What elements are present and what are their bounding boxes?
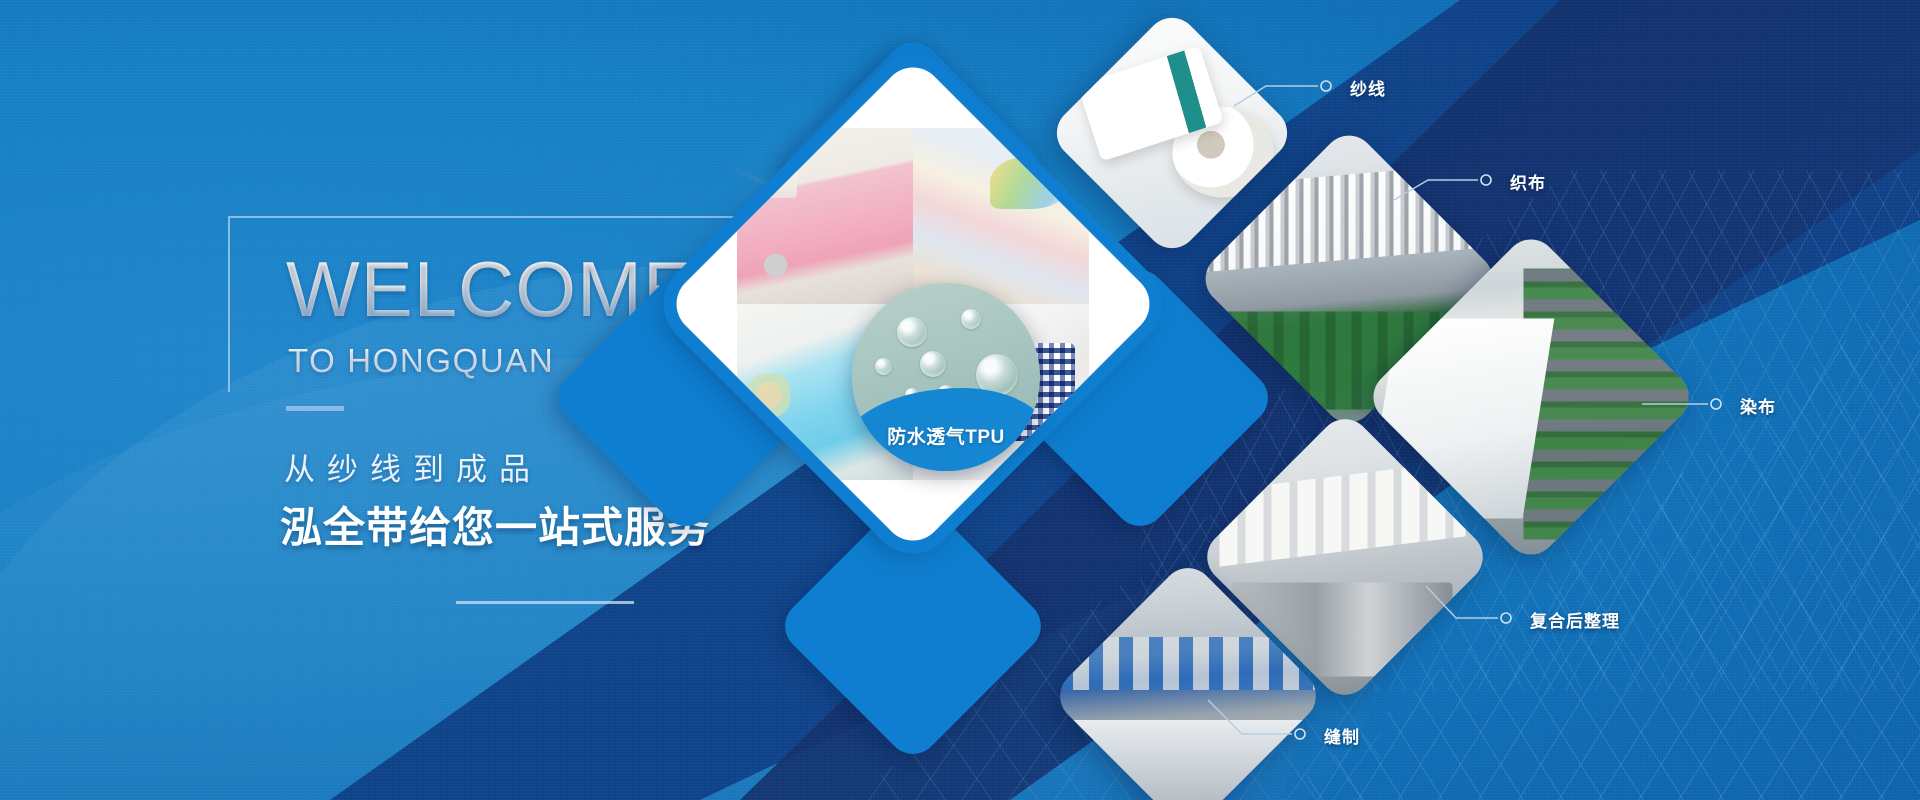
callout-dyeing: 染布: [1640, 378, 1920, 428]
callout-laminating: 复合后整理: [1400, 568, 1740, 638]
callout-sewing: 缝制: [1200, 686, 1500, 756]
tpu-badge: 防水透气TPU: [852, 283, 1040, 471]
callout-label-weaving: 织布: [1510, 169, 1546, 194]
callout-label-dyeing: 染布: [1740, 393, 1776, 418]
headline-chinese: 泓全带给您一站式服务: [280, 494, 710, 555]
callout-weaving: 织布: [1390, 150, 1690, 210]
tpu-badge-label: 防水透气TPU: [852, 422, 1040, 449]
callout-label-yarn: 纱线: [1350, 75, 1386, 100]
callout-label-sewing: 缝制: [1324, 723, 1360, 748]
page-subtitle: TO HONGQUAN: [288, 342, 554, 380]
callout-label-laminating: 复合后整理: [1530, 607, 1620, 632]
hero-banner: WELCOME TO HONGQUAN 从纱线到成品 泓全带给您一站式服务: [0, 0, 1920, 800]
callout-yarn: 纱线: [1230, 60, 1530, 120]
tagline-chinese: 从纱线到成品: [284, 444, 542, 489]
bottom-rule: [456, 601, 634, 604]
accent-bar: [286, 406, 344, 411]
